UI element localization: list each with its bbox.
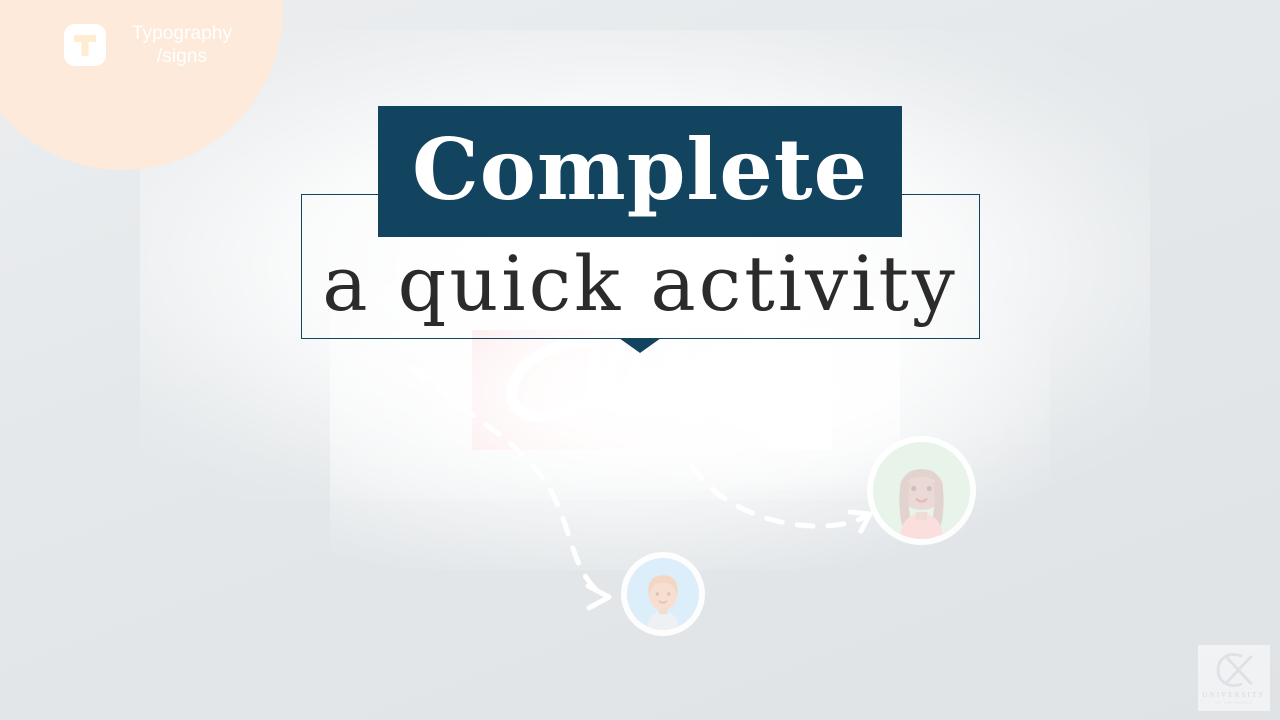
typography-badge-label: Typography /signs — [116, 22, 248, 68]
university-logo-subtitle: OF THE PEOPLE — [1215, 701, 1252, 705]
slide-canvas: Complete a quick activity Typography /si… — [0, 0, 1280, 720]
university-logo: UNIVERSITY OF THE PEOPLE — [1198, 645, 1270, 711]
typography-t-icon — [64, 24, 106, 66]
cx-monogram-icon — [1211, 651, 1257, 689]
headline-navy-band: Complete — [378, 106, 902, 237]
typography-badge[interactable]: Typography /signs — [0, 0, 300, 90]
headline-line-1: Complete — [412, 128, 868, 212]
avatar-woman — [873, 442, 970, 539]
dashed-arrow-to-woman — [692, 466, 868, 526]
university-logo-name: UNIVERSITY — [1203, 691, 1266, 699]
dashed-arrow-to-person-head — [588, 586, 609, 608]
typography-badge-label-line2: /signs — [116, 45, 248, 68]
dashed-arrow-to-person — [412, 368, 604, 596]
headline-line-2: a quick activity — [0, 238, 1280, 330]
typography-badge-label-line1: Typography — [116, 22, 248, 45]
avatar-person — [627, 558, 699, 630]
triangle-down-icon — [619, 338, 661, 353]
